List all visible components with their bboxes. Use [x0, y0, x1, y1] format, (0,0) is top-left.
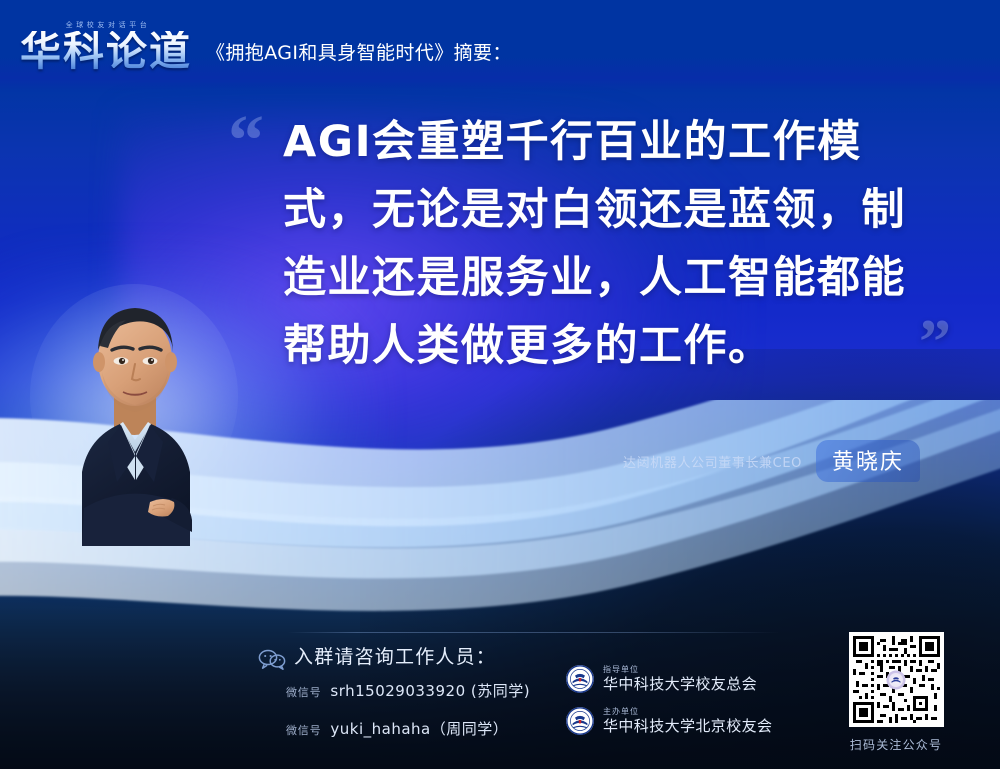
- quote-close-mark: ”: [919, 310, 949, 374]
- brand-logo: 全球校友对话平台 华科论道: [20, 20, 192, 72]
- qr-section: 扫码关注公众号: [836, 632, 956, 752]
- wechat-label: 微信号: [286, 684, 321, 700]
- quote-line: 造业还是服务业，人工智能都能: [283, 244, 943, 312]
- wechat-contact-row: 微信号 yuki_hahaha（周同学）: [286, 718, 508, 739]
- organizer-name: 华中科技大学北京校友会: [603, 719, 772, 734]
- speaker-portrait: [22, 276, 250, 546]
- qr-logo-icon: [887, 670, 906, 689]
- speaker-role: 达闼机器人公司董事长兼CEO: [623, 452, 802, 471]
- footer-divider: [288, 632, 780, 633]
- quote-block: “ AGI会重塑千行百业的工作模 式，无论是对白领还是蓝领，制 造业还是服务业，…: [283, 108, 943, 380]
- poster-canvas: 全球校友对话平台 华科论道 《拥抱AGI和具身智能时代》摘要： “ AGI会重塑…: [0, 0, 1000, 769]
- qr-caption: 扫码关注公众号: [850, 736, 942, 753]
- speaker-name: 黄晓庆: [816, 440, 920, 482]
- organizer-row: 主办单位 华中科技大学北京校友会: [565, 706, 772, 736]
- quote-line-last: 帮助人类做更多的工作。 ”: [283, 312, 943, 380]
- footer-heading: 入群请咨询工作人员：: [294, 642, 496, 669]
- quote-line-text: 帮助人类做更多的工作。: [283, 321, 773, 371]
- quote-line: AGI会重塑千行百业的工作模: [283, 108, 943, 176]
- logo-wordmark: 华科论道: [20, 31, 192, 72]
- page-title: 《拥抱AGI和具身智能时代》摘要：: [206, 38, 512, 65]
- organizer-name: 华中科技大学校友总会: [603, 677, 757, 692]
- university-seal-icon: [565, 664, 595, 694]
- wechat-contact-row: 微信号 srh15029033920 (苏同学): [286, 680, 530, 701]
- organizer-kind: 主办单位: [603, 708, 772, 716]
- university-seal-icon: [565, 706, 595, 736]
- organizer-list: 指导单位 华中科技大学校友总会 主办单位 华中科技大学北京校友会: [565, 664, 825, 756]
- quote-line: 式，无论是对白领还是蓝领，制: [283, 176, 943, 244]
- wechat-label: 微信号: [286, 722, 321, 738]
- quote-open-mark: “: [228, 104, 262, 176]
- attribution: 达闼机器人公司董事长兼CEO 黄晓庆: [600, 442, 920, 480]
- organizer-row: 指导单位 华中科技大学校友总会: [565, 664, 757, 694]
- wechat-icon: [258, 648, 286, 670]
- qr-code[interactable]: [849, 632, 944, 727]
- organizer-kind: 指导单位: [603, 666, 757, 674]
- wechat-id[interactable]: yuki_hahaha（周同学）: [330, 718, 508, 739]
- poster-header: 全球校友对话平台 华科论道 《拥抱AGI和具身智能时代》摘要：: [0, 0, 1000, 92]
- wechat-id[interactable]: srh15029033920 (苏同学): [330, 680, 530, 701]
